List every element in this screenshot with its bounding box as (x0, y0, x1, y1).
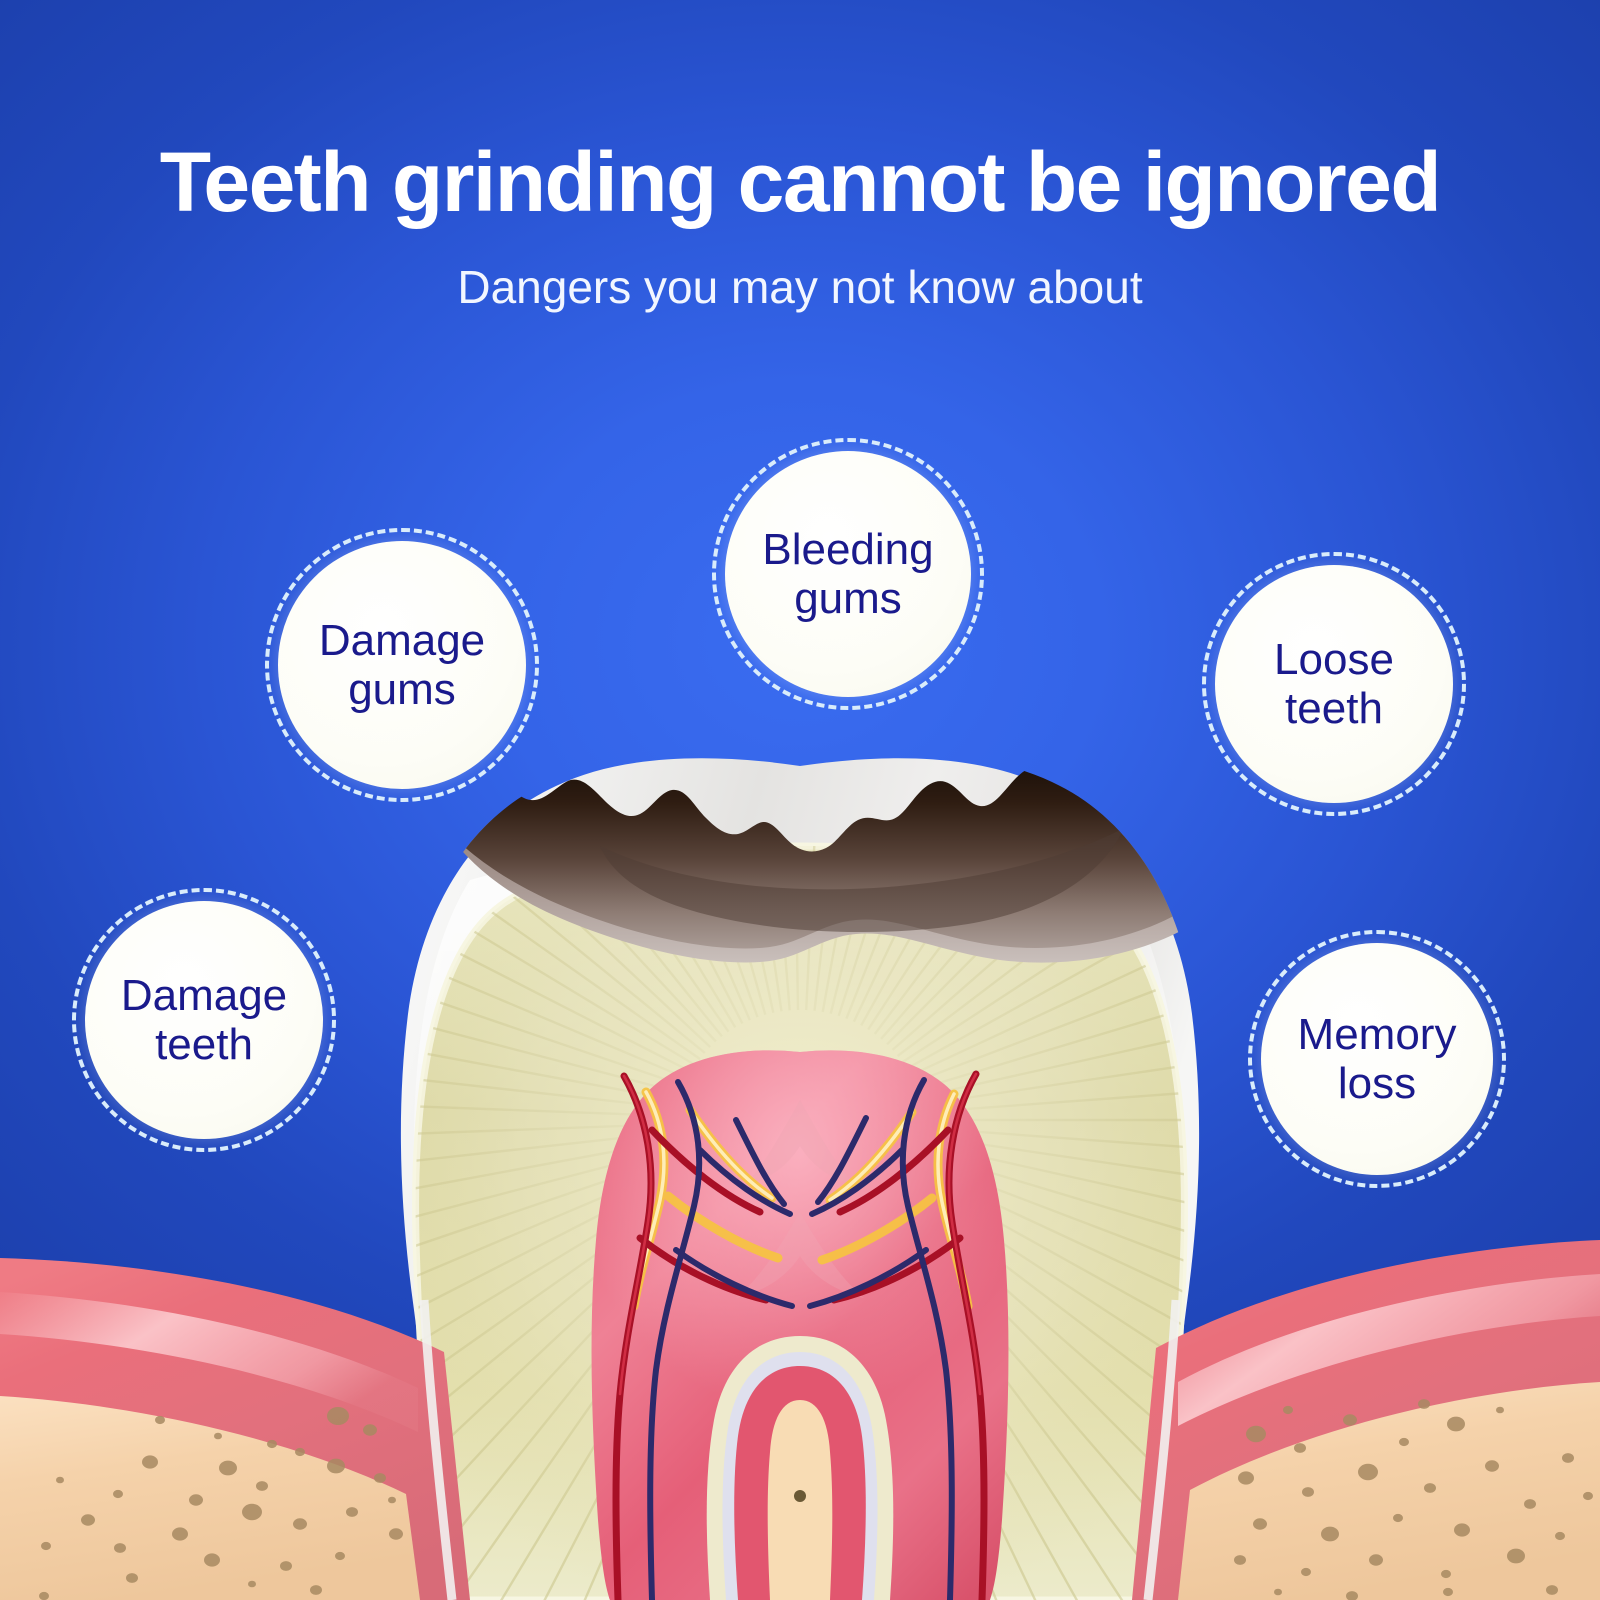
badge-line-2: gums (762, 574, 933, 623)
badge-line-2: loss (1298, 1059, 1457, 1108)
badge-line-1: Bleeding (762, 525, 933, 574)
badge-damage-teeth-label: Damage teeth (103, 971, 305, 1070)
gum-tissue-right (1132, 1240, 1600, 1600)
badge-line-1: Loose (1274, 635, 1394, 684)
badge-damage-teeth[interactable]: Damage teeth (72, 888, 336, 1152)
badge-memory-loss[interactable]: Memory loss (1248, 930, 1506, 1188)
badge-line-2: gums (319, 665, 485, 714)
badge-bleeding-gums[interactable]: Bleeding gums (712, 438, 984, 710)
infographic-poster: Teeth grinding cannot be ignored Dangers… (0, 0, 1600, 1600)
badge-line-1: Memory (1298, 1010, 1457, 1059)
badge-line-2: teeth (1274, 684, 1394, 733)
badge-loose-teeth[interactable]: Loose teeth (1202, 552, 1466, 816)
badge-damage-gums[interactable]: Damage gums (265, 528, 539, 802)
badge-line-1: Damage (121, 971, 287, 1020)
page-title: Teeth grinding cannot be ignored (0, 140, 1600, 224)
gum-tissue-left (0, 1258, 470, 1600)
badge-damage-gums-label: Damage gums (301, 616, 503, 715)
badge-line-2: teeth (121, 1020, 287, 1069)
badge-loose-teeth-label: Loose teeth (1256, 635, 1412, 734)
badge-memory-loss-label: Memory loss (1280, 1010, 1475, 1109)
badge-bleeding-gums-label: Bleeding gums (744, 525, 951, 624)
badge-line-1: Damage (319, 616, 485, 665)
page-subtitle: Dangers you may not know about (0, 264, 1600, 310)
